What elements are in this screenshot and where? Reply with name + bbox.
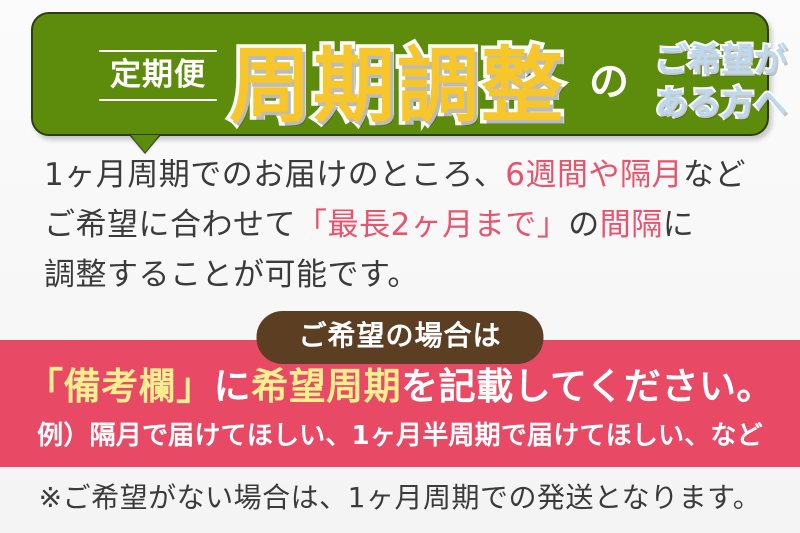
header-target-line-1: ご希望が xyxy=(641,38,800,81)
callout-main-part-1: 「備考欄」 xyxy=(26,365,214,408)
speech-bubble-tail xyxy=(131,135,159,152)
body-line-2-accent-2: 間隔 xyxy=(600,207,663,243)
promo-banner: 定期便 周期調整 の ご希望が ある方へ 1ヶ月周期でのお届けのところ、6週間や… xyxy=(0,0,800,533)
body-line-2: ご希望に合わせて「最長2ヶ月まで」の間隔に xyxy=(44,200,800,250)
header-target-audience: ご希望が ある方へ xyxy=(641,38,800,124)
body-line-3: 調整することが可能です。 xyxy=(44,250,800,300)
footer-note: ※ご希望がない場合は、1ヶ月周期での発送となります。 xyxy=(0,478,800,518)
header-connector: の xyxy=(589,62,629,102)
callout-main-text: 「備考欄」に希望周期を記載してください。 xyxy=(0,362,800,412)
body-line-1-accent-1: 6週間 xyxy=(505,157,588,193)
callout-main-part-3: 希望周期 xyxy=(251,365,401,408)
body-line-1-part-2: や xyxy=(588,157,620,193)
body-line-1-part-1: 1ヶ月周期でのお届けのところ、 xyxy=(44,157,505,193)
body-line-2-part-1: ご希望に合わせて xyxy=(44,207,296,243)
subscription-badge-label: 定期便 xyxy=(93,58,223,94)
body-line-1-part-3: など xyxy=(683,157,746,193)
body-description: 1ヶ月周期でのお届けのところ、6週間や隔月など ご希望に合わせて「最長2ヶ月まで… xyxy=(0,150,800,300)
body-line-2-accent-1: 「最長2ヶ月まで」 xyxy=(296,207,568,243)
body-line-1-accent-2: 隔月 xyxy=(620,157,683,193)
body-line-1: 1ヶ月周期でのお届けのところ、6週間や隔月など xyxy=(44,150,800,200)
body-line-2-part-2: に xyxy=(663,207,695,243)
callout-main-part-2: に xyxy=(214,365,252,408)
callout-example-text: 例）隔月で届けてほしい、1ヶ月半周期で届けてほしい、など xyxy=(0,418,800,454)
badge-rule-top xyxy=(99,50,217,52)
header-title: 周期調整 xyxy=(229,31,565,143)
banner-header: 定期便 周期調整 の ご希望が ある方へ xyxy=(0,0,800,152)
header-green-panel: 定期便 周期調整 の ご希望が ある方へ xyxy=(31,12,769,136)
body-line-2-plain: の xyxy=(568,207,600,243)
callout-main-part-4: を記載してください。 xyxy=(401,365,774,408)
subscription-badge: 定期便 xyxy=(93,50,223,101)
callout-badge: ご希望の場合は xyxy=(256,311,543,364)
header-target-line-2: ある方へ xyxy=(641,81,800,124)
body-line-2-highlight: 「最長2ヶ月まで」の間隔 xyxy=(296,200,663,250)
badge-rule-bottom xyxy=(99,99,217,101)
